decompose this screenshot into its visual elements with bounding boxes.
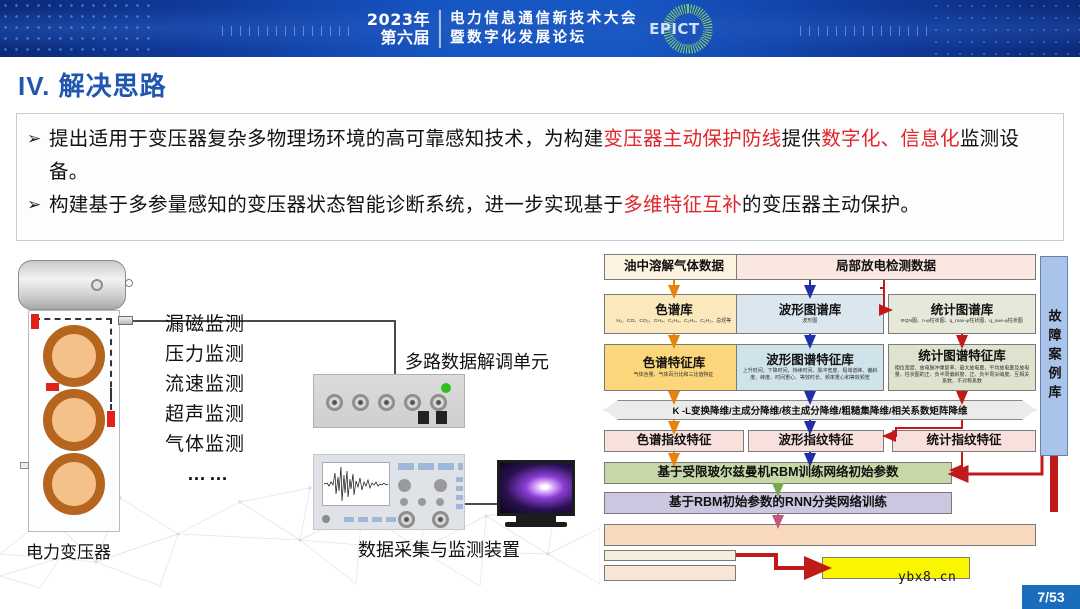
sensing-system-illustration: 电力变压器 漏磁监测 压力监测 流速监测 超声监测 气体监测 …… 多路数据解调…	[0, 248, 600, 588]
banner-edition: 第六届	[380, 29, 430, 47]
daq-bnc-port-icon	[398, 511, 415, 528]
banner-title-line1: 电力信息通信新技术大会	[450, 10, 638, 29]
daq-knob[interactable]	[434, 479, 447, 492]
bullet-item: ➢ 提出适用于变压器复杂多物理场环境的高可靠感知技术，为构建变压器主动保护防线提…	[27, 123, 1053, 189]
page-title: IV. 解决思路	[18, 66, 167, 103]
list-ellipsis: ……	[165, 460, 245, 490]
bullet-text: 构建基于多参量感知的变压器状态智能诊断系统，进一步实现基于多维特征互补的变压器主…	[49, 189, 920, 222]
banner-tickmarks-right	[800, 26, 930, 36]
demodulation-unit-device	[313, 374, 465, 428]
flow-box-label: 局部放电检测数据	[836, 259, 936, 275]
daq-power-knob[interactable]	[322, 515, 330, 523]
watermark: ybx8.cn	[898, 570, 956, 585]
bullet-plain: 提供	[782, 128, 822, 150]
demod-channel-port-icon	[404, 394, 421, 411]
transformer-coil	[43, 389, 105, 451]
flow-box-label: 统计指纹特征	[926, 433, 1001, 449]
flow-box-statistic-feature-lib: 统计图谱特征库 相位宽度、放电脉冲重复率、最大放电量、平均放电量及放电量、柱状图…	[888, 344, 1036, 391]
banner-year-block: 2023年 第六届	[367, 11, 430, 47]
page-number-badge: 7/53	[1022, 585, 1080, 609]
banner-tickmarks-left	[222, 26, 352, 36]
flow-box-label: 统计图谱特征库	[918, 349, 1006, 365]
demod-switch-icon	[436, 411, 447, 424]
demod-channel-port-icon	[378, 394, 395, 411]
flow-box-rbm-train: 基于受限玻尔兹曼机RBM训练网络初始参数	[604, 462, 952, 484]
banner-year: 2023年	[367, 11, 430, 29]
tank-outlet-icon	[125, 279, 133, 287]
daq-button[interactable]	[458, 463, 463, 470]
flow-box-rnn-train: 基于RBM初始参数的RNN分类网络训练	[604, 492, 952, 514]
transformer-label: 电力变压器	[26, 538, 111, 563]
banner-divider	[439, 10, 441, 48]
list-item: 超声监测	[165, 400, 245, 430]
daq-indicator	[456, 495, 463, 500]
daq-indicator	[456, 486, 463, 491]
flow-box-chromatogram-fingerprint: 色谱指纹特征	[604, 430, 744, 452]
sensor-marker	[46, 383, 59, 391]
epict-logo: EPICT	[649, 3, 713, 55]
display-monitor	[497, 460, 575, 516]
flow-box-sublabel: 上升时间、下降时间、持续时间、脉冲宽度、极域谱峰、偏斜度、峰度、时间重心、等效时…	[742, 369, 878, 382]
bullet-plain: 提出适用于变压器复杂多物理场环境的高可靠感知技术，为构建	[49, 128, 603, 150]
fault-case-library-connector	[1050, 456, 1058, 512]
bullet-highlight: 变压器主动保护防线	[603, 128, 781, 150]
tank-side-port-icon	[20, 462, 29, 469]
list-item: 压力监测	[165, 340, 245, 370]
daq-waveform-screen	[322, 462, 390, 506]
demod-channel-port-icon	[430, 394, 447, 411]
tank-cable-port-icon	[118, 316, 133, 325]
signal-cable	[394, 320, 396, 375]
banner-dot-pattern-left	[0, 0, 150, 57]
bullet-marker-icon: ➢	[27, 189, 49, 221]
bullet-text: 提出适用于变压器复杂多物理场环境的高可靠感知技术，为构建变压器主动保护防线提供数…	[49, 123, 1053, 189]
daq-button[interactable]	[438, 463, 454, 470]
bullet-item: ➢ 构建基于多参量感知的变压器状态智能诊断系统，进一步实现基于多维特征互补的变压…	[27, 189, 1053, 222]
flow-box-statistic-fingerprint: 统计指纹特征	[892, 430, 1036, 452]
conference-banner: 2023年 第六届 电力信息通信新技术大会 暨数字化发展论坛 EPICT	[0, 0, 1080, 57]
demod-switch-icon	[418, 411, 429, 424]
flow-box-sublabel: H₂、CO、CO₂、CH₄、C₂H₆、C₂H₄、C₂H₂、总烃等	[617, 318, 732, 325]
flow-box-statistic-lib: 统计图谱库 ΦQN图、n-φ柱状图、q_max-φ柱状图、q_ave-φ柱状图	[888, 294, 1036, 334]
monitor-base	[505, 522, 567, 527]
bullet-plain: 构建基于多参量感知的变压器状态智能诊断系统，进一步实现基于	[49, 194, 623, 216]
daq-knob[interactable]	[400, 498, 408, 506]
data-acquisition-device	[313, 454, 465, 530]
fault-case-library-panel: 故障案例库	[1040, 256, 1068, 456]
flow-box-chromatogram-lib: 色谱库 H₂、CO、CO₂、CH₄、C₂H₆、C₂H₄、C₂H₂、总烃等	[604, 294, 744, 334]
flow-box-chromatogram-feature-lib: 色谱特征库 气体含量、气体百分比和三比值特征	[604, 344, 744, 391]
power-led-icon	[441, 383, 451, 393]
flow-box-label: 基于RBM初始参数的RNN分类网络训练	[669, 495, 887, 511]
list-item: 流速监测	[165, 370, 245, 400]
demodulation-unit-label: 多路数据解调单元	[405, 348, 549, 374]
monitor-screen-image	[500, 463, 572, 513]
flow-box-label: 统计图谱库	[931, 303, 994, 319]
flow-box-label: 波形指纹特征	[778, 433, 853, 449]
bullet-panel: ➢ 提出适用于变压器复杂多物理场环境的高可靠感知技术，为构建变压器主动保护防线提…	[16, 113, 1064, 241]
daq-indicator	[358, 517, 368, 522]
banner-center-group: 2023年 第六届 电力信息通信新技术大会 暨数字化发展论坛 EPICT	[367, 3, 713, 55]
daq-knob[interactable]	[418, 498, 426, 506]
bullet-highlight: 数字化、信息化	[821, 128, 960, 150]
bullet-plain: 的变压器主动保护。	[742, 194, 920, 216]
monitoring-items-list: 漏磁监测 压力监测 流速监测 超声监测 气体监测 ……	[165, 310, 245, 490]
daq-indicator	[456, 477, 463, 482]
flow-box-label: 色谱指纹特征	[636, 433, 711, 449]
flow-box-sublabel: 相位宽度、放电脉冲重复率、最大放电量、平均放电量及放电量、柱状图的正、负半周偏斜…	[894, 365, 1030, 385]
flow-box-pd-detect-data: 局部放电检测数据	[736, 254, 1036, 280]
dimension-reduction-band: K -L变换降维/主成分降维/核主成分降维/粗糙集降维/相关系数矩阵降维	[604, 400, 1036, 420]
flow-box-waveform-fingerprint: 波形指纹特征	[748, 430, 884, 452]
flow-box-waveform-feature-lib: 波形图谱特征库 上升时间、下降时间、持续时间、脉冲宽度、极域谱峰、偏斜度、峰度、…	[736, 344, 884, 391]
flow-box-bottom-band-2	[604, 550, 736, 561]
daq-indicator	[386, 517, 396, 522]
flow-box-bottom-band-3	[604, 565, 736, 581]
daq-indicator	[372, 517, 382, 522]
bullet-marker-icon: ➢	[27, 123, 49, 155]
daq-bnc-port-icon	[432, 511, 449, 528]
daq-label: 数据采集与监测装置	[358, 536, 520, 562]
flow-box-label: 色谱库	[655, 303, 693, 319]
flow-box-label: 波形图谱特征库	[766, 353, 854, 369]
demod-channel-port-icon	[326, 394, 343, 411]
daq-button[interactable]	[398, 463, 414, 470]
sensor-marker	[31, 314, 39, 329]
banner-dot-pattern-right	[930, 0, 1080, 57]
flow-box-label: 油中溶解气体数据	[624, 259, 724, 275]
flow-box-sublabel: ΦQN图、n-φ柱状图、q_max-φ柱状图、q_ave-φ柱状图	[901, 318, 1023, 325]
banner-title-block: 电力信息通信新技术大会 暨数字化发展论坛	[450, 10, 638, 48]
bullet-highlight: 多维特征互补	[623, 194, 742, 216]
fault-case-library-label: 故障案例库	[1045, 309, 1064, 404]
banner-title-line2: 暨数字化发展论坛	[450, 29, 638, 48]
flow-box-oil-gas-data: 油中溶解气体数据	[604, 254, 744, 280]
diagnosis-flowchart: 油中溶解气体数据 局部放电检测数据 色谱库 H₂、CO、CO₂、CH₄、C₂H₆…	[596, 252, 1080, 592]
daq-indicator	[344, 517, 354, 522]
daq-indicator	[456, 504, 463, 509]
daq-knob[interactable]	[398, 479, 411, 492]
flow-box-label: 色谱特征库	[643, 356, 706, 372]
list-item: 漏磁监测	[165, 310, 245, 340]
sensor-marker	[107, 411, 115, 427]
flow-box-sublabel: 波形图	[803, 318, 818, 325]
flow-box-sublabel: 气体含量、气体百分比和三比值特征	[634, 372, 714, 379]
transformer-coil	[43, 453, 105, 515]
dimension-reduction-label: K -L变换降维/主成分降维/核主成分降维/粗糙集降维/相关系数矩阵降维	[672, 403, 967, 417]
flow-box-label: 波形图谱库	[779, 303, 842, 319]
demod-channel-port-icon	[352, 394, 369, 411]
waveform-trace-icon	[323, 463, 389, 505]
daq-button[interactable]	[418, 463, 434, 470]
slide-root: 2023年 第六届 电力信息通信新技术大会 暨数字化发展论坛 EPICT IV.…	[0, 0, 1080, 609]
tank-knob-icon	[91, 279, 103, 291]
flow-box-label: 基于受限玻尔兹曼机RBM训练网络初始参数	[658, 465, 899, 481]
flow-box-bottom-band-1	[604, 524, 1036, 546]
epict-logo-text: EPICT	[649, 20, 700, 38]
daq-knob[interactable]	[436, 498, 444, 506]
flow-box-waveform-lib: 波形图谱库 波形图	[736, 294, 884, 334]
list-item: 气体监测	[165, 430, 245, 460]
transformer-tank-top	[18, 260, 126, 310]
